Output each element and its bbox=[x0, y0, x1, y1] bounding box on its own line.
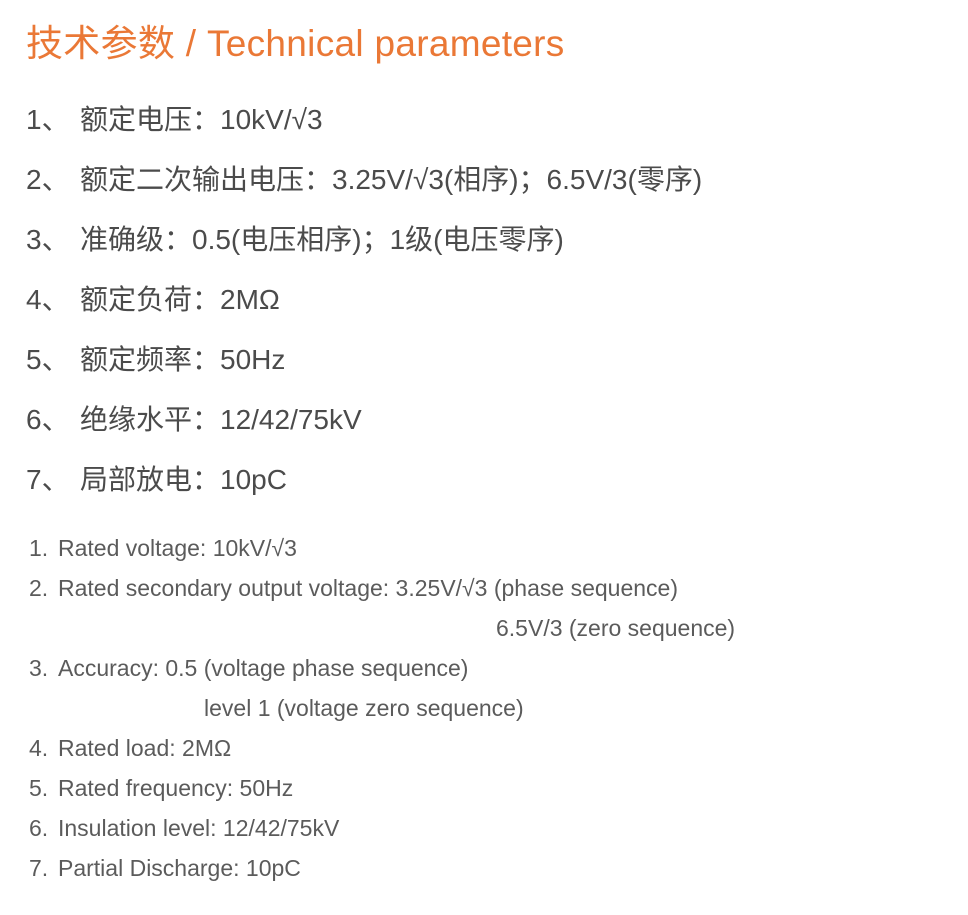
english-spec-item: 6. Insulation level: 12/42/75kV bbox=[29, 808, 949, 848]
english-spec-list: 1. Rated voltage: 10kV/√3 2. Rated secon… bbox=[29, 528, 949, 888]
english-spec-text: Rated voltage: 10kV/√3 bbox=[58, 528, 297, 568]
chinese-spec-text: 绝缘水平：12/42/75kV bbox=[80, 390, 362, 450]
chinese-spec-text: 额定二次输出电压：3.25V/√3(相序)；6.5V/3(零序) bbox=[80, 150, 702, 210]
chinese-spec-number: 4、 bbox=[26, 270, 80, 330]
english-spec-text: Rated load: 2MΩ bbox=[58, 728, 231, 768]
chinese-spec-item: 5、 额定频率：50Hz bbox=[26, 330, 946, 390]
chinese-spec-number: 2、 bbox=[26, 150, 80, 210]
english-spec-item: 4. Rated load: 2MΩ bbox=[29, 728, 949, 768]
chinese-spec-number: 5、 bbox=[26, 330, 80, 390]
english-spec-number: 4. bbox=[29, 728, 58, 768]
technical-parameters-page: 技术参数 / Technical parameters 1、 额定电压：10kV… bbox=[0, 0, 968, 915]
english-spec-text: level 1 (voltage zero sequence) bbox=[204, 688, 524, 728]
chinese-spec-item: 4、 额定负荷：2MΩ bbox=[26, 270, 946, 330]
english-spec-text: Partial Discharge: 10pC bbox=[58, 848, 301, 888]
english-spec-item: 1. Rated voltage: 10kV/√3 bbox=[29, 528, 949, 568]
chinese-spec-text: 额定频率：50Hz bbox=[80, 330, 285, 390]
chinese-spec-number: 6、 bbox=[26, 390, 80, 450]
chinese-spec-item: 1、 额定电压：10kV/√3 bbox=[26, 90, 946, 150]
english-spec-text: Rated frequency: 50Hz bbox=[58, 768, 293, 808]
english-spec-item: 3. Accuracy: 0.5 (voltage phase sequence… bbox=[29, 648, 949, 688]
english-spec-continuation: level 1 (voltage zero sequence) bbox=[29, 688, 949, 728]
english-spec-number: 3. bbox=[29, 648, 58, 688]
chinese-spec-item: 7、 局部放电：10pC bbox=[26, 450, 946, 510]
chinese-spec-item: 2、 额定二次输出电压：3.25V/√3(相序)；6.5V/3(零序) bbox=[26, 150, 946, 210]
english-spec-number: 7. bbox=[29, 848, 58, 888]
english-spec-number: 2. bbox=[29, 568, 58, 608]
english-spec-number: 6. bbox=[29, 808, 58, 848]
chinese-spec-list: 1、 额定电压：10kV/√3 2、 额定二次输出电压：3.25V/√3(相序)… bbox=[26, 90, 946, 510]
english-spec-text: 6.5V/3 (zero sequence) bbox=[496, 608, 735, 648]
english-spec-item: 2. Rated secondary output voltage: 3.25V… bbox=[29, 568, 949, 608]
chinese-spec-item: 3、 准确级：0.5(电压相序)；1级(电压零序) bbox=[26, 210, 946, 270]
chinese-spec-number: 3、 bbox=[26, 210, 80, 270]
chinese-spec-text: 准确级：0.5(电压相序)；1级(电压零序) bbox=[80, 210, 564, 270]
chinese-spec-text: 额定负荷：2MΩ bbox=[80, 270, 280, 330]
chinese-spec-number: 1、 bbox=[26, 90, 80, 150]
english-spec-continuation: 6.5V/3 (zero sequence) bbox=[29, 608, 949, 648]
chinese-spec-item: 6、 绝缘水平：12/42/75kV bbox=[26, 390, 946, 450]
english-spec-number: 5. bbox=[29, 768, 58, 808]
chinese-spec-text: 局部放电：10pC bbox=[80, 450, 287, 510]
english-spec-item: 5. Rated frequency: 50Hz bbox=[29, 768, 949, 808]
chinese-spec-number: 7、 bbox=[26, 450, 80, 510]
english-spec-text: Insulation level: 12/42/75kV bbox=[58, 808, 339, 848]
english-spec-number: 1. bbox=[29, 528, 58, 568]
english-spec-item: 7. Partial Discharge: 10pC bbox=[29, 848, 949, 888]
chinese-spec-text: 额定电压：10kV/√3 bbox=[80, 90, 323, 150]
page-title: 技术参数 / Technical parameters bbox=[26, 22, 565, 66]
english-spec-text: Accuracy: 0.5 (voltage phase sequence) bbox=[58, 648, 468, 688]
english-spec-text: Rated secondary output voltage: 3.25V/√3… bbox=[58, 568, 678, 608]
